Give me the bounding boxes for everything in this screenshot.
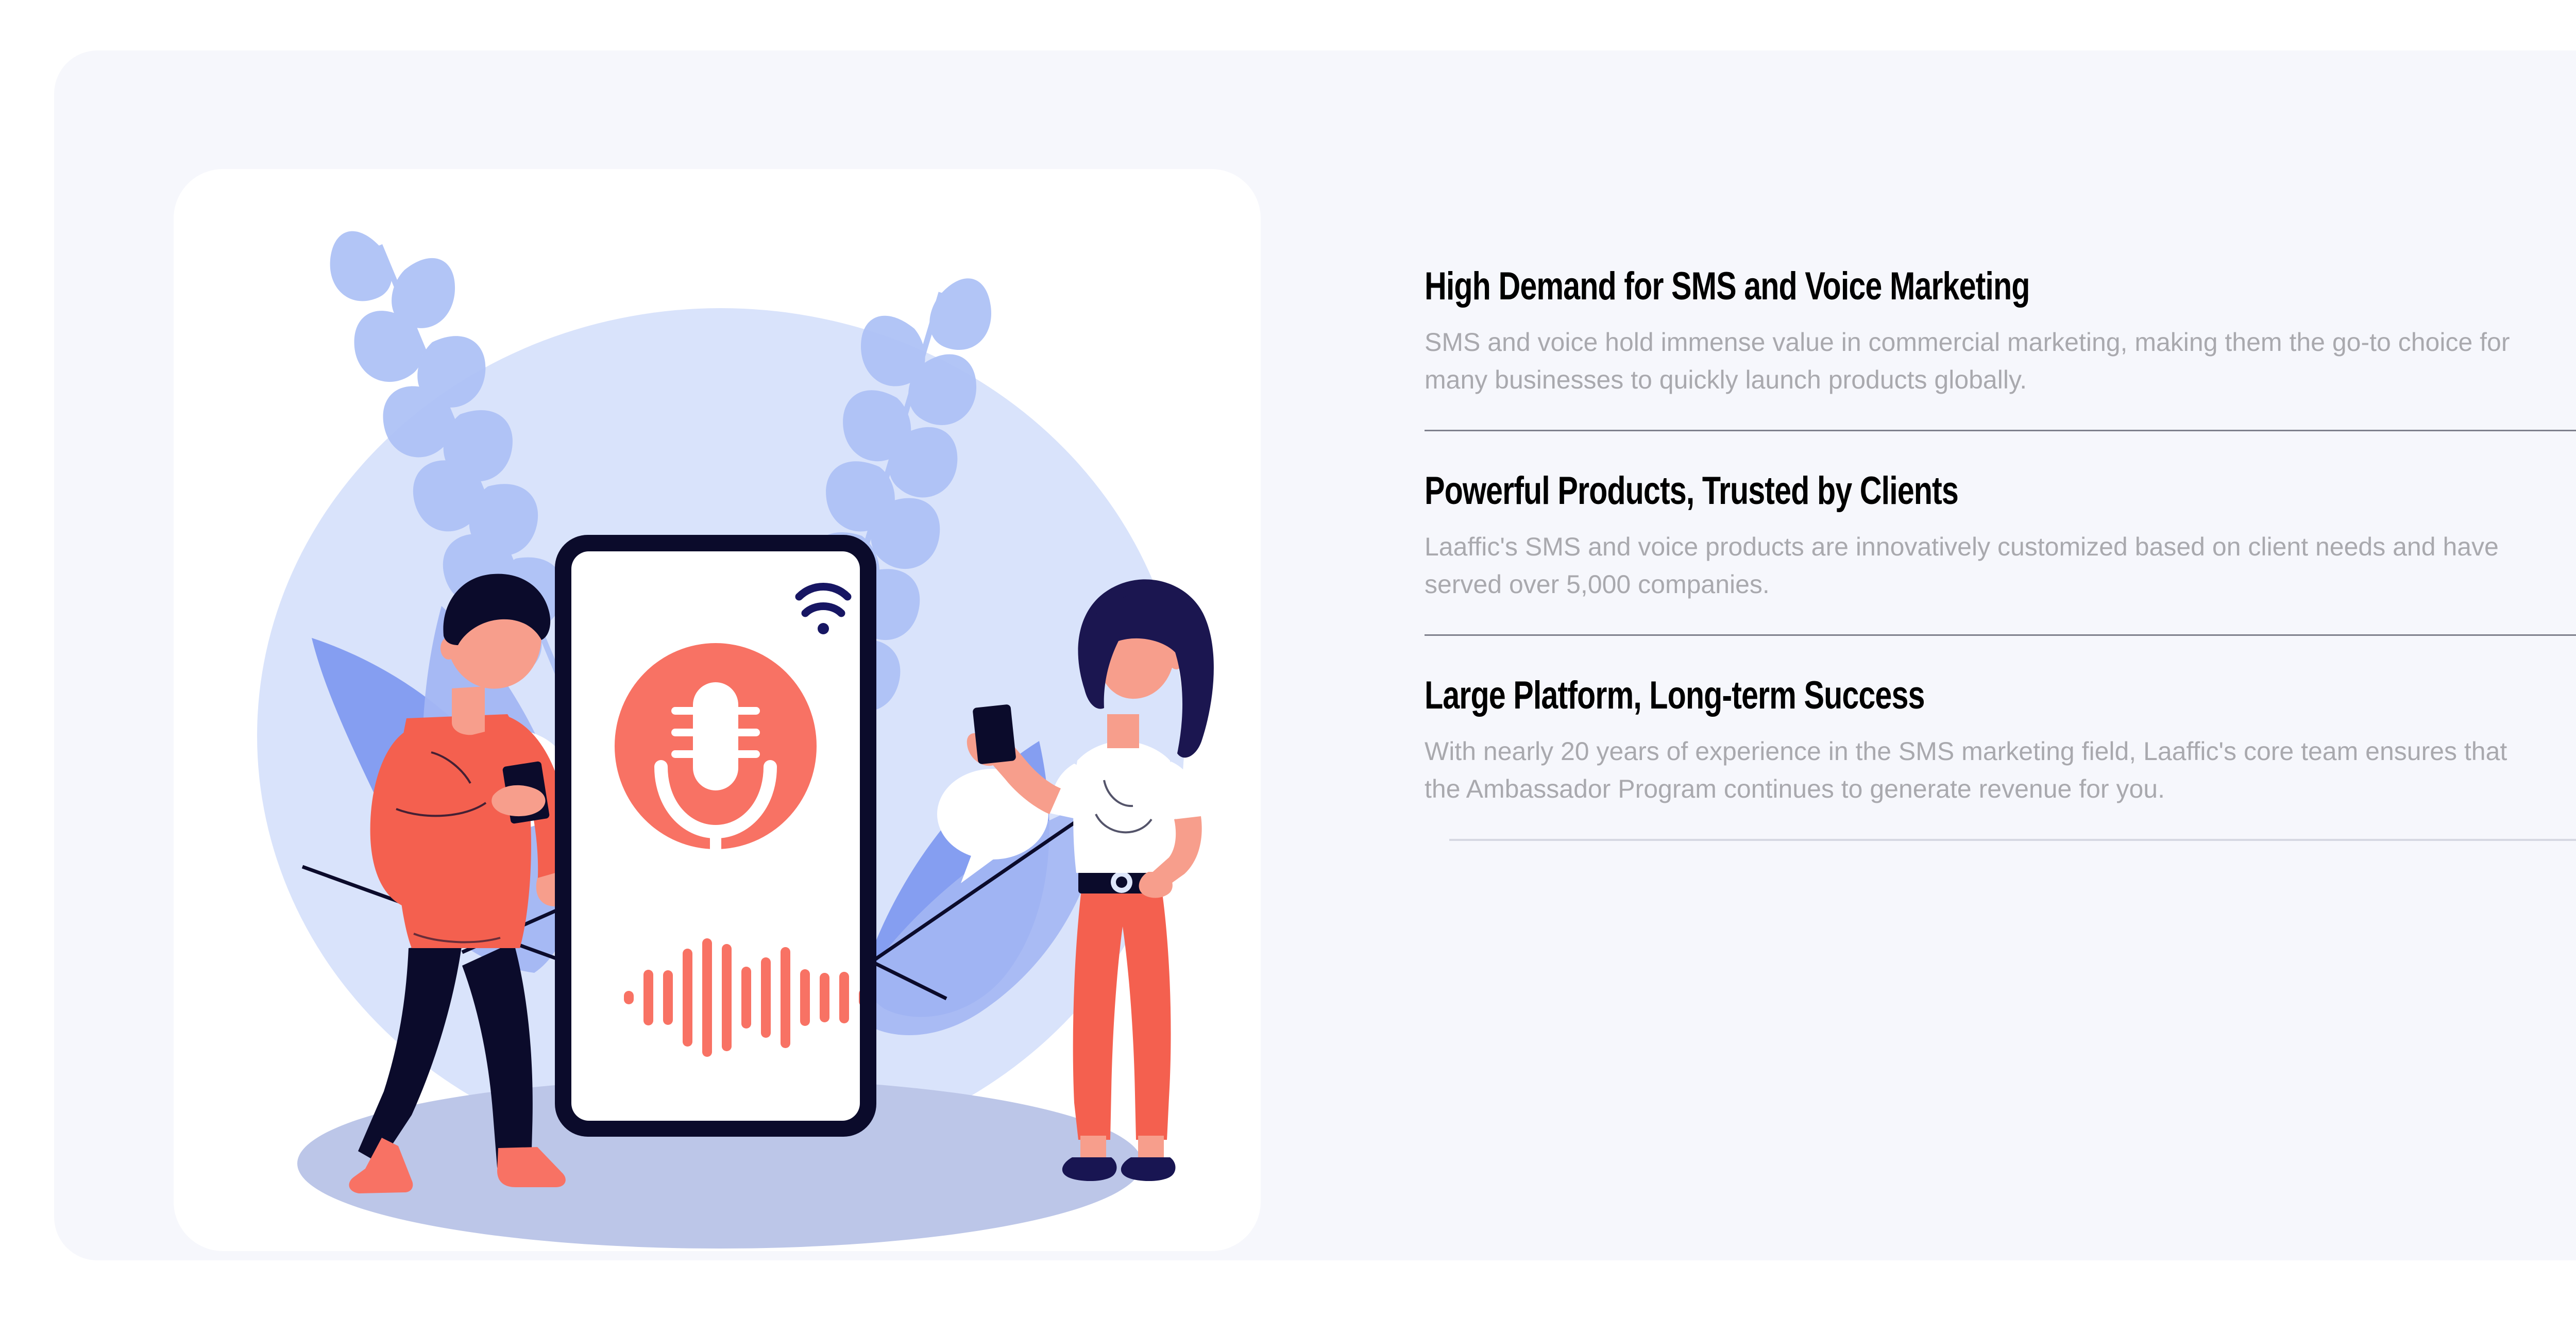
spacer-1 bbox=[1425, 431, 2576, 471]
feature-item-1: High Demand for SMS and Voice Marketing … bbox=[1425, 267, 2576, 431]
illustration-card bbox=[174, 169, 1261, 1251]
voice-marketing-illustration bbox=[174, 169, 1261, 1251]
feature-item-3: Large Platform, Long-term Success With n… bbox=[1425, 676, 2576, 841]
phone-device bbox=[555, 535, 876, 1137]
page-root: High Demand for SMS and Voice Marketing … bbox=[0, 0, 2576, 1332]
feature-body-1: SMS and voice hold immense value in comm… bbox=[1425, 324, 2548, 399]
feature-panel: High Demand for SMS and Voice Marketing … bbox=[54, 50, 2576, 1260]
feature-title-3: Large Platform, Long-term Success bbox=[1425, 676, 2349, 715]
feature-title-2: Powerful Products, Trusted by Clients bbox=[1425, 471, 2349, 511]
illustration-stage bbox=[174, 169, 1261, 1251]
feature-body-2: Laaffic's SMS and voice products are inn… bbox=[1425, 528, 2548, 603]
feature-body-3: With nearly 20 years of experience in th… bbox=[1425, 733, 2548, 808]
feature-item-2: Powerful Products, Trusted by Clients La… bbox=[1425, 471, 2576, 636]
feature-list: High Demand for SMS and Voice Marketing … bbox=[1425, 267, 2576, 841]
spacer-2 bbox=[1425, 636, 2576, 676]
feature-title-1: High Demand for SMS and Voice Marketing bbox=[1425, 267, 2349, 306]
feature-divider-3 bbox=[1449, 839, 2576, 841]
feature-divider-2 bbox=[1425, 634, 2576, 636]
feature-divider-1 bbox=[1425, 430, 2576, 431]
